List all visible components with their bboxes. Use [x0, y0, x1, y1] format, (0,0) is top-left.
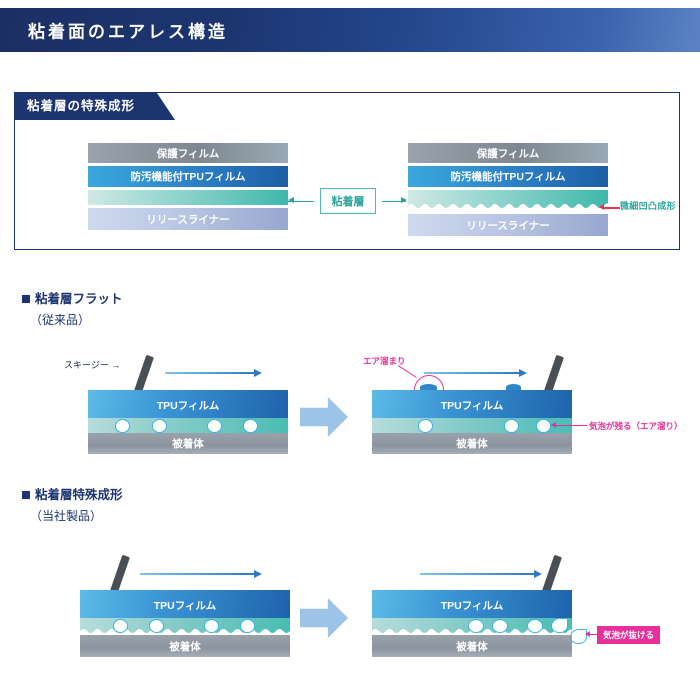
layer-label: リリースライナー: [466, 218, 549, 233]
air-bubble: [207, 419, 222, 433]
air-bubble: [149, 619, 164, 633]
tpu-film-label: TPUフィルム: [88, 398, 288, 413]
wave-edge-icon: [408, 202, 608, 211]
page-title: 粘着面のエアレス構造: [28, 18, 228, 43]
squeegee-label: スキージー →: [64, 358, 120, 371]
air-bubble: [113, 619, 128, 633]
section-heading-flat: 粘着層フラット: [22, 288, 123, 307]
process-block-arrow-icon: [300, 397, 348, 437]
air-bubble: [492, 619, 508, 633]
substrate-label: 被着体: [169, 639, 201, 654]
air-bubble: [468, 619, 484, 633]
squeegee-icon: [134, 355, 154, 394]
layer-adhesive-textured: [408, 190, 608, 211]
adhesive-layer-label: 粘着層: [320, 188, 376, 214]
bullet-square-icon: [22, 491, 30, 499]
arrow-right-head-icon: [401, 197, 407, 203]
escaping-bubble: [551, 618, 568, 633]
section-heading-special: 粘着層特殊成形: [22, 484, 123, 503]
tpu-film-layer: TPUフィルム: [80, 590, 290, 618]
layer-tpu-film: 防汚機能付TPUフィルム: [408, 166, 608, 187]
tpu-film-layer: TPUフィルム: [372, 390, 572, 418]
tpu-film-label: TPUフィルム: [372, 598, 572, 613]
layer-label: 保護フィルム: [477, 146, 540, 161]
air-bubble: [418, 419, 433, 433]
layer-protective-film: 保護フィルム: [408, 143, 608, 163]
layer-label: 防汚機能付TPUフィルム: [130, 169, 245, 184]
layer-protective-film: 保護フィルム: [88, 143, 288, 163]
micro-texture-arrow-icon: [604, 207, 620, 209]
tpu-film-layer: TPUフィルム: [372, 590, 572, 618]
result-note-special: 気泡が抜ける: [597, 626, 660, 644]
direction-arrow-icon: [420, 573, 535, 575]
substrate-layer: 被着体: [372, 635, 572, 657]
layer-stack-left: 保護フィルム 防汚機能付TPUフィルム リリースライナー: [88, 143, 288, 233]
layer-label: リリースライナー: [146, 212, 229, 227]
air-bubble: [536, 419, 551, 433]
direction-arrow-icon: [424, 372, 520, 374]
tpu-film-layer: TPUフィルム: [88, 390, 288, 418]
squeegee-icon: [544, 355, 564, 394]
layer-release-liner: リリースライナー: [88, 208, 288, 230]
structure-section-banner: 粘着層の特殊成形: [15, 93, 175, 120]
adhesive-layer-textured: [80, 618, 290, 635]
section-subheading-flat: （従来品）: [30, 311, 90, 328]
layer-label: 保護フィルム: [157, 146, 220, 161]
direction-arrow-icon: [140, 573, 255, 575]
substrate-label: 被着体: [456, 436, 488, 451]
squeegee-icon: [110, 555, 130, 594]
substrate-layer: 被着体: [88, 433, 288, 454]
result-note-flat: 気泡が残る（エア溜り）: [589, 420, 683, 432]
substrate-layer: 被着体: [372, 433, 572, 454]
direction-arrow-icon: [165, 372, 255, 374]
air-bubble: [240, 619, 255, 633]
bullet-square-icon: [22, 295, 30, 303]
layer-stack-right: 保護フィルム 防汚機能付TPUフィルム リリースライナー: [408, 143, 608, 239]
callout-leader-line: [398, 365, 417, 378]
section-heading-flat-text: 粘着層フラット: [35, 292, 123, 306]
substrate-label: 被着体: [172, 436, 204, 451]
squeegee-icon: [542, 555, 562, 594]
air-bubble: [204, 619, 219, 633]
substrate-layer: 被着体: [80, 635, 290, 657]
process-block-arrow-icon: [300, 598, 348, 638]
air-bubble: [115, 419, 130, 433]
layer-release-liner: リリースライナー: [408, 214, 608, 236]
section-heading-special-text: 粘着層特殊成形: [35, 488, 123, 502]
layer-tpu-film: 防汚機能付TPUフィルム: [88, 166, 288, 187]
micro-texture-label: 微細凹凸成形: [620, 199, 676, 212]
result-leader-line: [551, 425, 587, 426]
wave-edge-icon: [80, 627, 290, 635]
substrate-label: 被着体: [456, 639, 488, 654]
result-arrow-head-icon: [585, 631, 590, 637]
air-bubble: [152, 419, 167, 433]
page-header: 粘着面のエアレス構造: [0, 8, 700, 52]
result-arrow-head-icon: [551, 422, 556, 428]
air-bubble: [243, 419, 258, 433]
arrow-left-head-icon: [288, 197, 294, 203]
tpu-film-label: TPUフィルム: [372, 398, 572, 413]
section-subheading-special: （当社製品）: [30, 507, 102, 524]
air-bubble: [504, 419, 519, 433]
tpu-film-label: TPUフィルム: [80, 598, 290, 613]
layer-adhesive-flat: [88, 190, 288, 205]
air-bubble: [527, 619, 543, 633]
layer-label: 防汚機能付TPUフィルム: [450, 169, 565, 184]
